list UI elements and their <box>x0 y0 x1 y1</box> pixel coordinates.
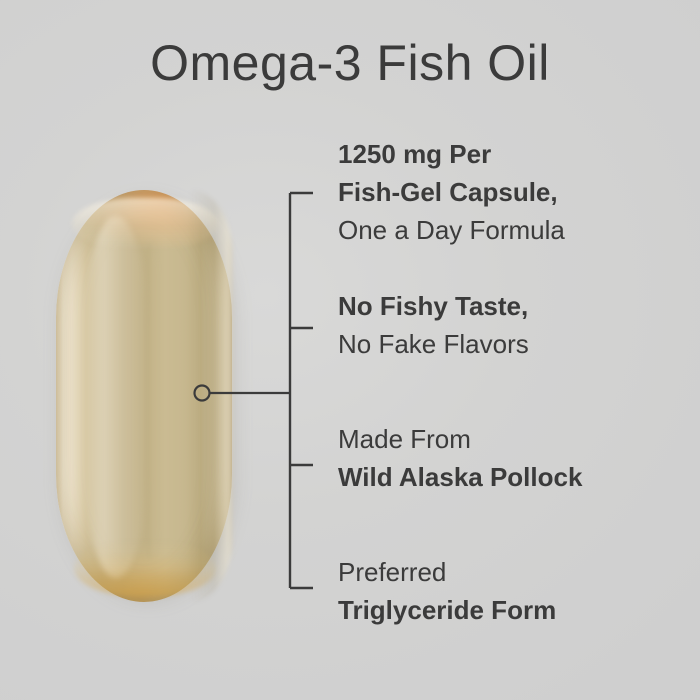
callout-line: Preferred <box>338 553 556 591</box>
capsule-body <box>56 190 232 602</box>
callout-line: One a Day Formula <box>338 211 565 249</box>
capsule-inner-facet <box>84 216 148 578</box>
callout-line: Triglyceride Form <box>338 591 556 629</box>
capsule-specular-streak <box>142 242 158 560</box>
callout-line: No Fake Flavors <box>338 325 529 363</box>
callout-source: Made From Wild Alaska Pollock <box>338 420 582 496</box>
callout-line: Wild Alaska Pollock <box>338 458 582 496</box>
callout-line: 1250 mg Per <box>338 135 565 173</box>
callout-line: No Fishy Taste, <box>338 287 529 325</box>
page-title: Omega-3 Fish Oil <box>0 34 700 92</box>
product-capsule-image <box>56 190 234 604</box>
capsule-right-edge-gloss <box>190 190 232 602</box>
infographic-canvas: Omega-3 Fish Oil 1250 mg Per Fish-Gel Ca… <box>0 0 700 700</box>
callout-line: Made From <box>338 420 582 458</box>
callout-form: Preferred Triglyceride Form <box>338 553 556 629</box>
callout-taste: No Fishy Taste, No Fake Flavors <box>338 287 529 363</box>
callout-dosage: 1250 mg Per Fish-Gel Capsule, One a Day … <box>338 135 565 249</box>
callout-line: Fish-Gel Capsule, <box>338 173 565 211</box>
